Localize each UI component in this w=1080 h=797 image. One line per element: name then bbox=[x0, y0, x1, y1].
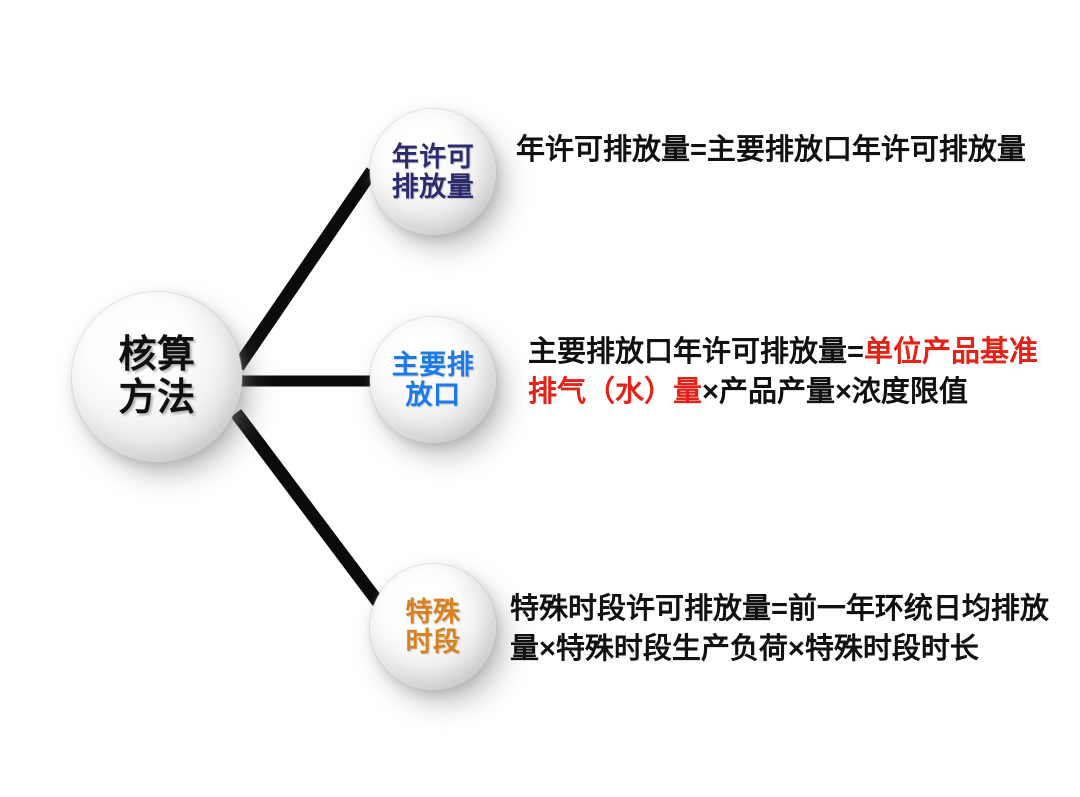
description-annual-text: 年许可排放量=主要排放口年许可排放量 bbox=[516, 134, 1026, 166]
connector-root-to-special bbox=[236, 413, 378, 602]
node-root-accounting-method[interactable]: 核算 方法 bbox=[72, 292, 242, 462]
description-mainoutlet-text: 主要排放口年许可排放量=单位产品基准排气（水）量×产品产量×浓度限值 bbox=[528, 336, 1038, 408]
connector-root-to-annual bbox=[238, 171, 372, 367]
node-root-label: 核算 方法 bbox=[118, 334, 195, 419]
description-special-text: 特殊时段许可排放量=前一年环统日均排放量×特殊时段生产负荷×特殊时段时长 bbox=[510, 593, 1049, 665]
diagram-canvas: 核算 方法 年许可 排放量 主要排 放口 特殊 时段 年许可排放量=主要排放口年… bbox=[0, 0, 1080, 797]
plain-run: 特殊时段许可排放量=前一年环统日均排放量×特殊时段生产负荷×特殊时段时长 bbox=[510, 593, 1049, 665]
plain-run: 年许可排放量=主要排放口年许可排放量 bbox=[516, 134, 1026, 166]
description-special-period: 特殊时段许可排放量=前一年环统日均排放量×特殊时段生产负荷×特殊时段时长 bbox=[510, 589, 1050, 669]
description-main-outlet: 主要排放口年许可排放量=单位产品基准排气（水）量×产品产量×浓度限值 bbox=[528, 332, 1056, 412]
node-annual-label: 年许可 排放量 bbox=[392, 142, 475, 202]
node-mainoutlet-label: 主要排 放口 bbox=[392, 350, 475, 410]
node-special-label: 特殊 时段 bbox=[406, 597, 461, 657]
node-special-period[interactable]: 特殊 时段 bbox=[370, 564, 496, 690]
plain-run: ×产品产量×浓度限值 bbox=[702, 376, 968, 408]
description-annual-permitted-emission: 年许可排放量=主要排放口年许可排放量 bbox=[516, 130, 1052, 170]
node-annual-permitted-emission[interactable]: 年许可 排放量 bbox=[370, 109, 496, 235]
node-main-outlet[interactable]: 主要排 放口 bbox=[370, 317, 496, 443]
plain-run: 主要排放口年许可排放量= bbox=[528, 336, 864, 368]
